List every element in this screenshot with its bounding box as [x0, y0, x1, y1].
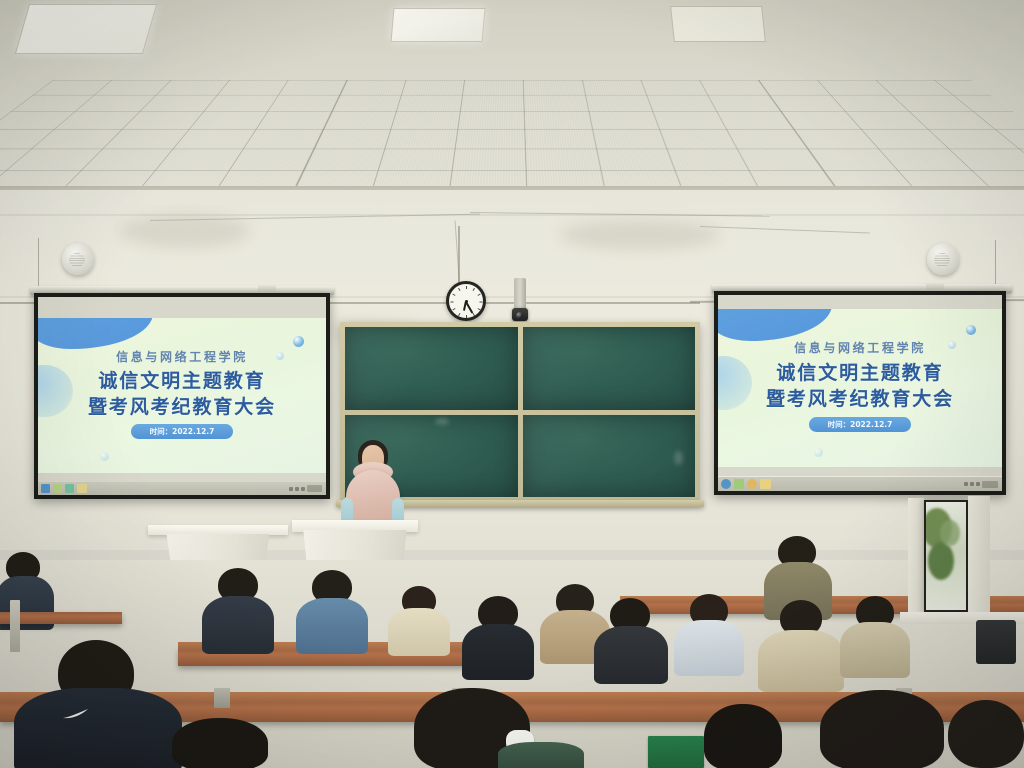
clock-minute-hand: [465, 301, 473, 314]
slide-top-gutter: [38, 297, 326, 318]
brand-logo-icon: [62, 708, 90, 720]
slide-heading-line2: 暨考风考纪教育大会: [38, 392, 326, 419]
blackboard-panel: [523, 415, 696, 498]
slide-subtitle: 信息与网络工程学院: [718, 339, 1002, 356]
student-body: [14, 688, 182, 768]
camera-mount: [514, 278, 526, 312]
slide-date-badge: 时间：2022.12.7: [131, 424, 233, 439]
student-body: [202, 596, 274, 654]
foliage: [940, 520, 960, 546]
student-body: [498, 742, 584, 768]
chalk-smudge: [435, 418, 449, 425]
slide-date-badge: 时间：2022.12.7: [809, 417, 911, 432]
blackboard-panel: [345, 327, 518, 410]
folder-icon[interactable]: [734, 479, 744, 489]
chalk-smudge: [674, 451, 683, 465]
window-glass: [926, 502, 966, 610]
clock-tick: [478, 294, 481, 296]
slide-bottom-gutter: [718, 467, 1002, 476]
volume-icon[interactable]: [970, 482, 974, 486]
student-body: [758, 630, 844, 692]
student-body: [388, 608, 450, 656]
slide-bubble: [100, 452, 109, 461]
screen-pull-cord: [995, 240, 996, 284]
slide-bubble: [814, 448, 823, 457]
clock-tick: [473, 313, 475, 316]
exterior-window: [924, 500, 968, 612]
browser-icon[interactable]: [721, 479, 731, 489]
presenter: [336, 440, 408, 532]
student-body: [674, 620, 744, 676]
wall-stain: [120, 214, 250, 248]
side-desk-top: [148, 525, 288, 535]
network-icon[interactable]: [964, 482, 968, 486]
clock-tick: [473, 288, 475, 291]
right-projection-screen: 信息与网络工程学院 诚信文明主题教育 暨考风考纪教育大会 时间：2022.12.…: [712, 284, 1012, 500]
ceiling-light-panel: [391, 8, 486, 42]
wall-clock: [446, 281, 486, 321]
ceiling-tile-texture: [0, 80, 1024, 196]
taskbar-system-tray[interactable]: [289, 485, 326, 492]
ceiling: [0, 0, 1024, 196]
slide-blue-wave-shape: [718, 309, 832, 341]
screen-surface: 信息与网络工程学院 诚信文明主题教育 暨考风考纪教育大会 时间：2022.12.…: [718, 295, 1002, 491]
ceiling-light-panel: [15, 4, 157, 54]
clock-tick: [452, 308, 455, 310]
clock-tick: [458, 313, 460, 316]
lecture-hall-photo: 信息与网络工程学院 诚信文明主题教育 暨考风考纪教育大会 时间：2022.12.…: [0, 0, 1024, 768]
slide-heading-line1: 诚信文明主题教育: [718, 358, 1002, 385]
network-icon[interactable]: [289, 487, 293, 491]
volume-icon[interactable]: [295, 487, 299, 491]
student-head: [948, 700, 1024, 768]
slide-subtitle: 信息与网络工程学院: [38, 348, 326, 365]
screen-surface: 信息与网络工程学院 诚信文明主题教育 暨考风考纪教育大会 时间：2022.12.…: [38, 297, 326, 495]
wall-column: [908, 498, 924, 620]
blackboard-panel: [523, 327, 696, 410]
clock-tick: [466, 315, 467, 318]
clock-tick: [478, 308, 481, 310]
ceiling-access-panel: [670, 6, 766, 42]
slide-heading-line2: 暨考风考纪教育大会: [718, 384, 1002, 411]
slide-bubble: [293, 336, 304, 347]
slide-heading-line1: 诚信文明主题教育: [38, 366, 326, 393]
wall-speaker-left: [62, 243, 94, 275]
student-body: [840, 622, 910, 678]
clock-tick: [458, 288, 460, 291]
aisle-chair: [976, 620, 1016, 664]
slide-canvas: 信息与网络工程学院 诚信文明主题教育 暨考风考纪教育大会 时间：2022.12.…: [38, 318, 326, 473]
student-body: [296, 598, 368, 654]
folder-icon[interactable]: [53, 484, 62, 493]
student-body: [594, 626, 668, 684]
slide-blue-wave-shape: [38, 318, 153, 349]
wall-speaker-right: [927, 243, 959, 275]
chair-back: [10, 600, 20, 652]
student-hair: [704, 704, 782, 768]
clock-center-pin: [465, 300, 468, 303]
media-icon[interactable]: [747, 479, 757, 489]
student-hair: [172, 718, 268, 768]
taskbar-icon-group[interactable]: [718, 479, 771, 489]
taskbar-clock[interactable]: [982, 481, 998, 488]
wall-crack: [700, 226, 870, 234]
ceiling-tile-grid: [0, 80, 1024, 196]
clock-tick: [451, 302, 454, 303]
camera-icon: [512, 308, 528, 321]
slide-bubble: [966, 325, 976, 335]
slide-canvas: 信息与网络工程学院 诚信文明主题教育 暨考风考纪教育大会 时间：2022.12.…: [718, 309, 1002, 467]
browser-icon[interactable]: [41, 484, 50, 493]
clock-tick: [466, 286, 467, 289]
screen-border: 信息与网络工程学院 诚信文明主题教育 暨考风考纪教育大会 时间：2022.12.…: [34, 293, 330, 499]
screen-border: 信息与网络工程学院 诚信文明主题教育 暨考风考纪教育大会 时间：2022.12.…: [714, 291, 1006, 495]
desktop-taskbar[interactable]: [38, 482, 326, 495]
taskbar-clock[interactable]: [307, 485, 322, 492]
input-method-icon[interactable]: [301, 487, 305, 491]
slide-bottom-gutter: [38, 473, 326, 482]
slide-top-gutter: [718, 295, 1002, 309]
taskbar-icon-group[interactable]: [38, 484, 87, 493]
screen-pull-cord: [38, 238, 39, 286]
student-hair: [820, 690, 944, 768]
left-projection-screen: 信息与网络工程学院 诚信文明主题教育 暨考风考纪教育大会 时间：2022.12.…: [30, 286, 334, 502]
clock-tick: [480, 302, 483, 303]
document-icon[interactable]: [760, 479, 771, 489]
student-body: [462, 624, 534, 680]
taskbar-system-tray[interactable]: [964, 481, 1002, 488]
foliage: [928, 542, 954, 580]
desktop-taskbar[interactable]: [718, 477, 1002, 491]
bench-bracket: [214, 688, 230, 708]
wall-stain: [560, 220, 720, 250]
green-booklet: [648, 736, 704, 768]
wall-column: [968, 496, 990, 622]
clock-tick: [452, 294, 455, 296]
input-method-icon[interactable]: [976, 482, 980, 486]
media-icon[interactable]: [65, 484, 74, 493]
document-icon[interactable]: [77, 484, 87, 493]
